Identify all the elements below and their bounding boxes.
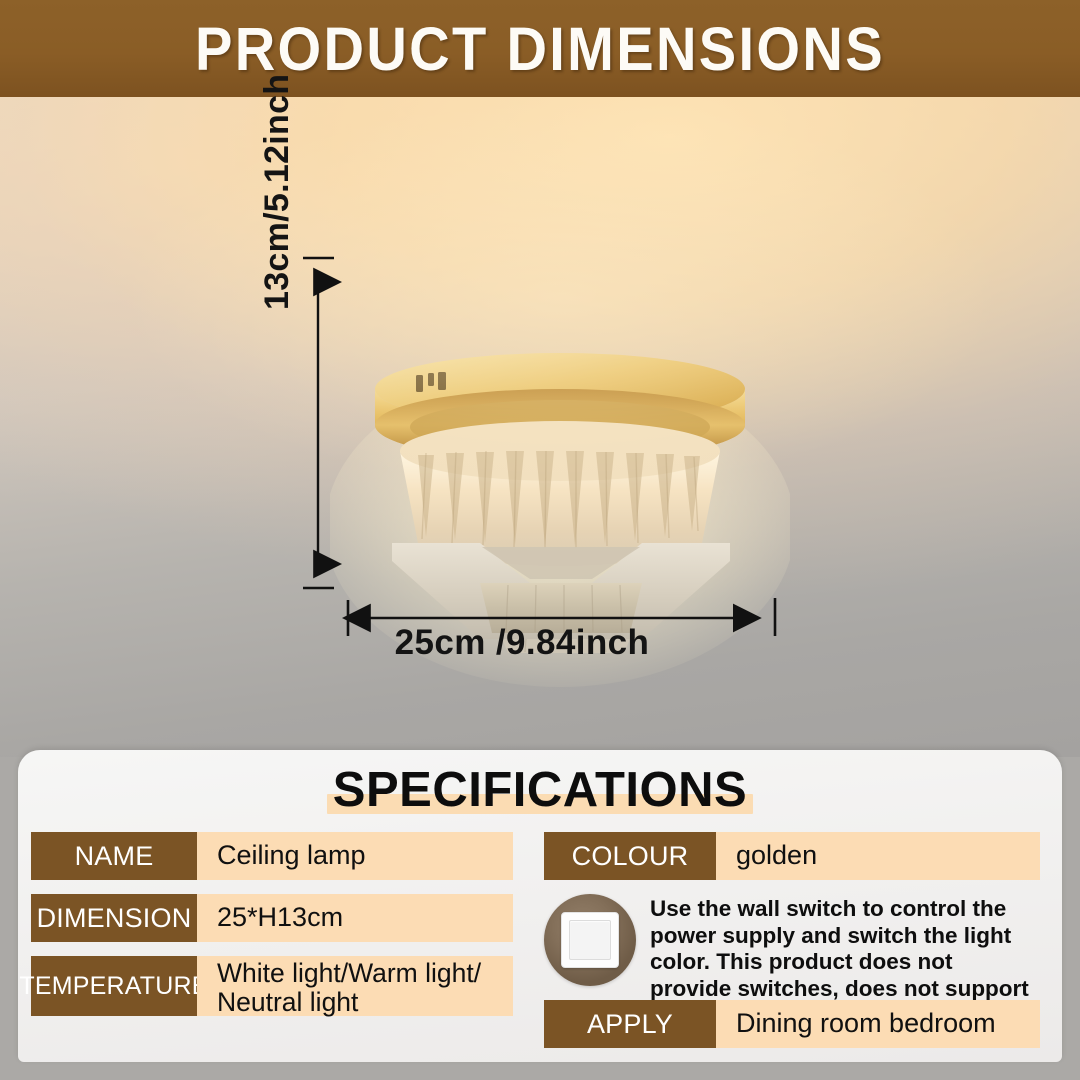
specifications-rows: NAME Ceiling lamp DIMENSION 25*H13cm TEM… xyxy=(18,832,1062,1062)
spec-left-column: NAME Ceiling lamp DIMENSION 25*H13cm TEM… xyxy=(31,832,513,1030)
page-title: PRODUCT DIMENSIONS xyxy=(195,14,885,84)
spec-label-dimension: DIMENSION xyxy=(31,894,197,942)
spec-label-temperature: TEMPERATURE xyxy=(31,956,197,1016)
spec-value-name: Ceiling lamp xyxy=(197,832,513,880)
spec-value-dimension: 25*H13cm xyxy=(197,894,513,942)
switch-plate xyxy=(561,912,619,968)
spec-row-colour: COLOUR golden xyxy=(544,832,1040,880)
specifications-panel: SPECIFICATIONS NAME Ceiling lamp DIMENSI… xyxy=(18,750,1062,1062)
spec-row-temperature: TEMPERATURE White light/Warm light/ Neut… xyxy=(31,956,513,1016)
product-dimensions-infographic: PRODUCT DIMENSIONS xyxy=(0,0,1080,1080)
spec-row-dimension: DIMENSION 25*H13cm xyxy=(31,894,513,942)
spec-value-temperature: White light/Warm light/ Neutral light xyxy=(197,956,513,1016)
switch-rocker xyxy=(569,920,611,960)
spec-label-name: NAME xyxy=(31,832,197,880)
spec-label-apply: APPLY xyxy=(544,1000,716,1048)
header-banner: PRODUCT DIMENSIONS xyxy=(0,0,1080,97)
wall-switch-note: Use the wall switch to control the power… xyxy=(544,894,1040,990)
spec-right-column: COLOUR golden Use the wall switch to con… xyxy=(544,832,1040,1062)
spec-label-colour: COLOUR xyxy=(544,832,716,880)
specifications-title: SPECIFICATIONS xyxy=(327,762,753,818)
wall-switch-icon xyxy=(544,894,636,986)
ceiling-lamp-illustration xyxy=(330,347,790,692)
product-photo-area xyxy=(0,97,1080,757)
spec-value-apply: Dining room bedroom xyxy=(716,1000,1040,1048)
spec-value-colour: golden xyxy=(716,832,1040,880)
spec-row-name: NAME Ceiling lamp xyxy=(31,832,513,880)
specifications-title-wrap: SPECIFICATIONS xyxy=(18,762,1062,824)
spec-row-apply: APPLY Dining room bedroom xyxy=(544,1000,1040,1048)
